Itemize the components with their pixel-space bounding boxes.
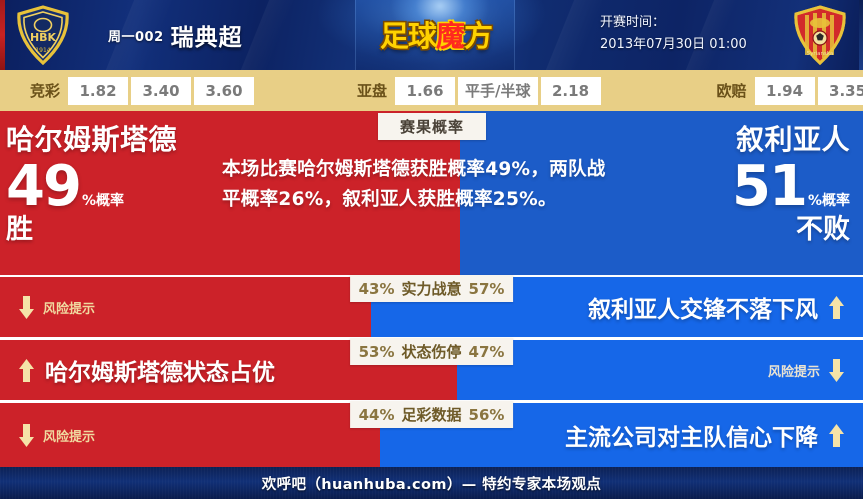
kickoff-label: 开赛时间： [600, 12, 790, 34]
away-team-stat: 叙利亚人 51 %概率 不败 [620, 123, 850, 245]
match-title: 周一002 瑞典超 [108, 14, 243, 56]
away-win-percent: 51 [732, 159, 806, 215]
odds-bar: 竞彩 1.82 3.40 3.60 亚盘 1.66 平手/半球 2.18 欧赔 … [0, 70, 863, 111]
comparison-metric-name: 实力战意 [401, 278, 461, 299]
home-result-label: 胜 [6, 215, 236, 245]
away-team-name: 叙利亚人 [620, 123, 850, 157]
kickoff-value: 2013年07月30日 01:00 [600, 34, 790, 56]
site-brand-logo: 足球魔方 [375, 14, 497, 54]
home-win-percent: 49 [6, 159, 80, 215]
odds-cell[interactable]: 平手/半球 [458, 77, 537, 105]
comparison-right-percent: 57% [469, 280, 505, 298]
arrow-up-icon [18, 358, 35, 383]
odds-cell[interactable]: 3.35 [818, 77, 863, 105]
section-tab-result-probability: 赛果概率 [378, 113, 486, 140]
home-crest-initials: HBK [30, 31, 57, 44]
footer-attribution-text: 欢呼吧（huanhuba.com）— 特约专家本场观点 [262, 473, 602, 494]
odds-group-yapan: 亚盘 1.66 平手/半球 2.18 [349, 70, 604, 111]
comparison-home-message-text: 风险提示 [43, 426, 95, 445]
comparison-metric-name: 足彩数据 [401, 404, 461, 425]
odds-cell[interactable]: 3.60 [194, 77, 254, 105]
kickoff-time-block: 开赛时间： 2013年07月30日 01:00 [600, 12, 790, 56]
svg-text:Syrianska: Syrianska [807, 51, 834, 57]
arrow-down-icon [828, 358, 845, 383]
comparison-away-message: 风险提示 [768, 340, 845, 400]
comparison-row-center-label: 44% 足彩数据 56% [350, 401, 514, 428]
comparison-away-message: 主流公司对主队信心下降 [565, 403, 845, 467]
comparison-row: 43% 实力战意 57% 风险提示 叙利亚人交锋不落下风 [0, 277, 863, 337]
result-probability-block: 赛果概率 哈尔姆斯塔德 49 %概率 胜 叙利亚人 51 %概率 不败 本场比赛… [0, 111, 863, 275]
odds-cell[interactable]: 1.82 [68, 77, 128, 105]
odds-cell[interactable]: 2.18 [541, 77, 601, 105]
comparison-left-percent: 43% [359, 280, 395, 298]
brand-text-part2: 魔 [436, 13, 464, 55]
brand-text-part1: 足球 [380, 13, 436, 55]
arrow-down-icon [18, 295, 35, 320]
arrow-up-icon [828, 295, 845, 320]
odds-cell[interactable]: 1.66 [395, 77, 455, 105]
header-right-accent-stripe [859, 0, 863, 70]
home-percent-unit: %概率 [82, 194, 124, 208]
comparison-home-message: 风险提示 [18, 277, 95, 337]
header-bar: HBK 1914 Syrianska 周一00 [0, 0, 863, 70]
comparison-left-percent: 44% [359, 406, 395, 424]
comparison-row: 53% 状态伤停 47% 哈尔姆斯塔德状态占优 风险提示 [0, 340, 863, 400]
arrow-down-icon [18, 423, 35, 448]
comparison-away-message-text: 叙利亚人交锋不落下风 [588, 290, 818, 324]
brand-text-part3: 方 [464, 13, 492, 55]
match-code-label: 周一002 [108, 26, 164, 45]
comparison-home-message: 哈尔姆斯塔德状态占优 [18, 340, 275, 400]
odds-group-jingcai: 竞彩 1.82 3.40 3.60 [22, 70, 257, 111]
odds-group-oupei: 欧赔 1.94 3.35 3.66 [709, 70, 863, 111]
away-percent-unit: %概率 [808, 194, 850, 208]
comparison-right-percent: 47% [469, 343, 505, 361]
comparison-home-message-text: 哈尔姆斯塔德状态占优 [45, 353, 275, 387]
home-team-stat: 哈尔姆斯塔德 49 %概率 胜 [6, 123, 236, 245]
header-left-accent-stripe [0, 0, 5, 70]
comparison-left-percent: 53% [359, 343, 395, 361]
match-analysis-infographic: HBK 1914 Syrianska 周一00 [0, 0, 863, 499]
away-team-crest-icon: Syrianska [791, 5, 849, 65]
comparison-home-message: 风险提示 [18, 403, 95, 467]
comparison-row: 44% 足彩数据 56% 风险提示 主流公司对主队信心下降 [0, 403, 863, 467]
home-team-name: 哈尔姆斯塔德 [6, 123, 236, 157]
away-result-label: 不败 [620, 215, 850, 245]
odds-group-label: 竞彩 [22, 80, 68, 101]
comparison-home-message-text: 风险提示 [43, 298, 95, 317]
comparison-right-percent: 56% [469, 406, 505, 424]
svg-text:1914: 1914 [35, 47, 50, 54]
odds-cell[interactable]: 1.94 [755, 77, 815, 105]
comparison-away-message: 叙利亚人交锋不落下风 [588, 277, 845, 337]
home-team-crest-icon: HBK 1914 [14, 5, 72, 65]
comparison-away-message-text: 主流公司对主队信心下降 [565, 418, 818, 452]
comparison-metric-name: 状态伤停 [401, 341, 461, 362]
odds-group-label: 欧赔 [709, 80, 755, 101]
odds-cell[interactable]: 3.40 [131, 77, 191, 105]
header-diagonal-shine-2 [233, 0, 303, 70]
comparison-away-message-text: 风险提示 [768, 361, 820, 380]
comparison-row-center-label: 53% 状态伤停 47% [350, 338, 514, 365]
league-name-label: 瑞典超 [171, 18, 243, 52]
arrow-up-icon [828, 423, 845, 448]
comparison-row-center-label: 43% 实力战意 57% [350, 275, 514, 302]
odds-group-label: 亚盘 [349, 80, 395, 101]
match-summary-text: 本场比赛哈尔姆斯塔德获胜概率49%，两队战平概率26%，叙利亚人获胜概率25%。 [222, 155, 612, 215]
footer-bar: 欢呼吧（huanhuba.com）— 特约专家本场观点 [0, 467, 863, 499]
